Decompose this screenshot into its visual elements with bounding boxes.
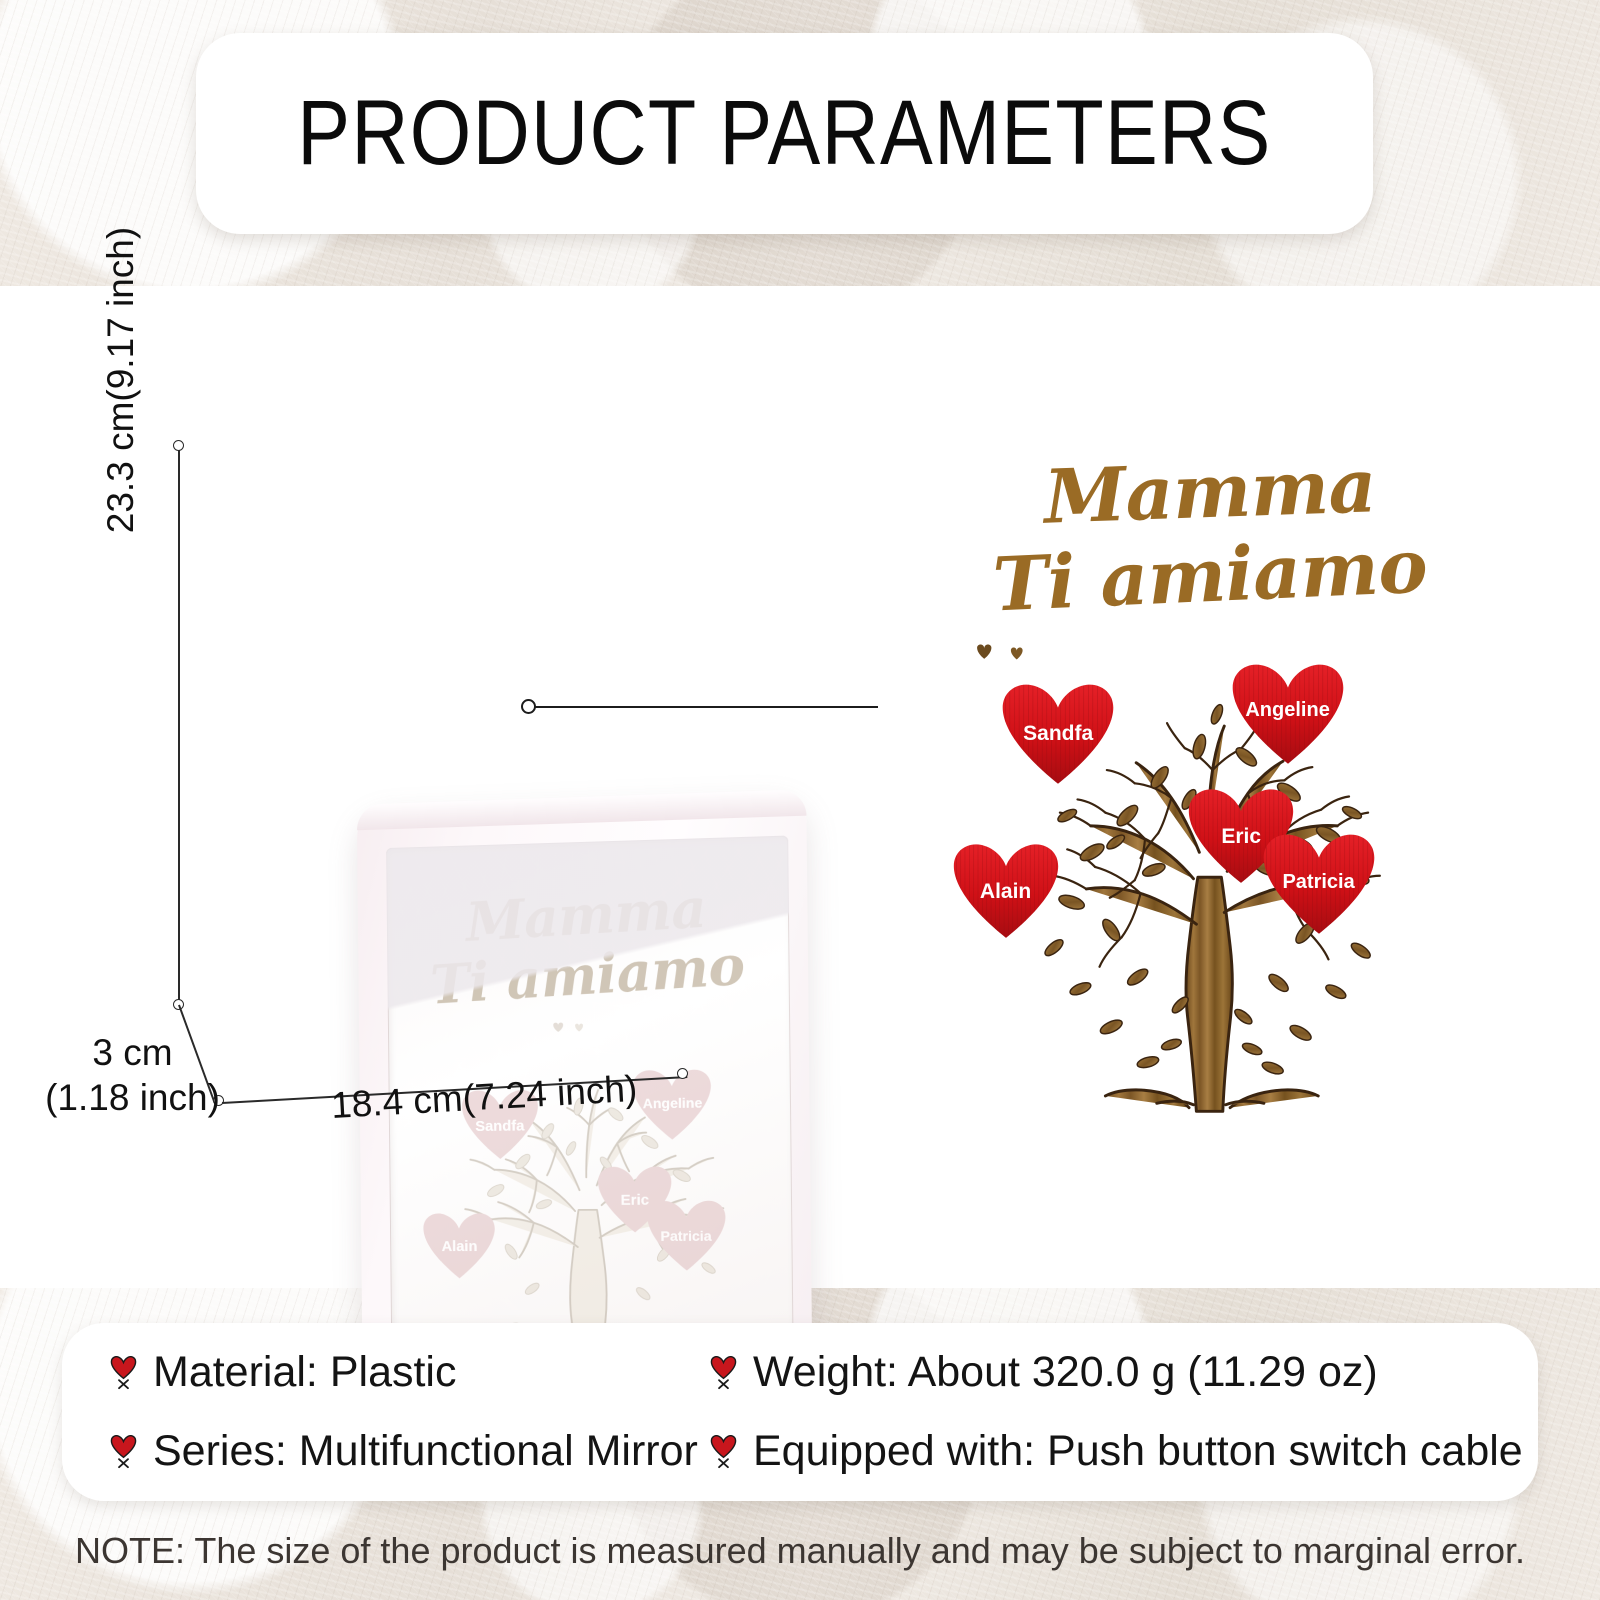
artwork-name-heart-4: Patricia — [1260, 830, 1378, 936]
spec-label-equipped-with: Equipped with: Push button switch cable — [753, 1430, 1523, 1473]
specs-right-column: Weight: About 320.0 g (11.29 oz) Equippe… — [710, 1323, 1523, 1501]
product-photo: Mamma Ti amiamo — [150, 390, 750, 1090]
note-text: NOTE: The size of the product is measure… — [0, 1530, 1600, 1572]
heart-bullet-icon — [710, 1356, 737, 1390]
page-title: PRODUCT PARAMETERS — [297, 81, 1271, 186]
artwork-name-heart-0: Sandfa — [999, 680, 1117, 786]
spec-row-series: Series: Multifunctional Mirror — [110, 1430, 698, 1473]
spec-label-series: Series: Multifunctional Mirror — [153, 1430, 698, 1473]
artwork-name-heart-label-1: Angeline — [1229, 699, 1347, 722]
height-dim-dot-top — [173, 440, 184, 451]
name-heart-label-3: Alain — [421, 1238, 497, 1255]
artwork-name-hearts: Sandfa Angeline Eric Alain — [900, 455, 1520, 1115]
heart-bullet-icon — [110, 1435, 137, 1469]
artwork-name-heart-1: Angeline — [1229, 660, 1347, 766]
depth-dimension-label: 3 cm (1.18 inch) — [35, 1030, 230, 1120]
spec-row-material: Material: Plastic — [110, 1351, 698, 1394]
depth-dimension-line2: (1.18 inch) — [35, 1075, 230, 1120]
spec-label-weight: Weight: About 320.0 g (11.29 oz) — [753, 1351, 1378, 1394]
name-heart-3: Alain — [421, 1210, 498, 1280]
artwork-name-heart-label-0: Sandfa — [999, 722, 1117, 746]
artwork-illustration: Mamma Ti amiamo — [900, 455, 1520, 1115]
height-dimension-label: 23.3 cm(9.17 inch) — [100, 170, 142, 590]
artwork-name-heart-label-4: Patricia — [1260, 871, 1378, 894]
spec-row-weight: Weight: About 320.0 g (11.29 oz) — [710, 1351, 1523, 1394]
leader-line — [534, 706, 878, 708]
width-dim-dot-right — [677, 1068, 688, 1079]
artwork-name-heart-3: Alain — [950, 840, 1062, 940]
specs-left-column: Material: Plastic Series: Multifunctiona… — [110, 1323, 698, 1501]
title-card: PRODUCT PARAMETERS — [196, 33, 1373, 234]
spec-label-material: Material: Plastic — [153, 1351, 456, 1394]
heart-bullet-icon — [110, 1356, 137, 1390]
height-dim-line — [178, 445, 180, 1005]
heart-bullet-icon — [710, 1435, 737, 1469]
specifications-card: Material: Plastic Series: Multifunctiona… — [62, 1323, 1538, 1501]
name-heart-label-4: Patricia — [645, 1227, 728, 1243]
name-heart-4: Patricia — [644, 1197, 728, 1272]
artwork-name-heart-label-3: Alain — [950, 880, 1062, 904]
name-heart-label-0: Sandfa — [460, 1118, 541, 1136]
depth-dimension-line1: 3 cm — [35, 1030, 230, 1075]
spec-row-equipped-with: Equipped with: Push button switch cable — [710, 1430, 1523, 1473]
name-heart-label-1: Angeline — [631, 1095, 714, 1112]
frame-top-edge — [357, 789, 807, 830]
